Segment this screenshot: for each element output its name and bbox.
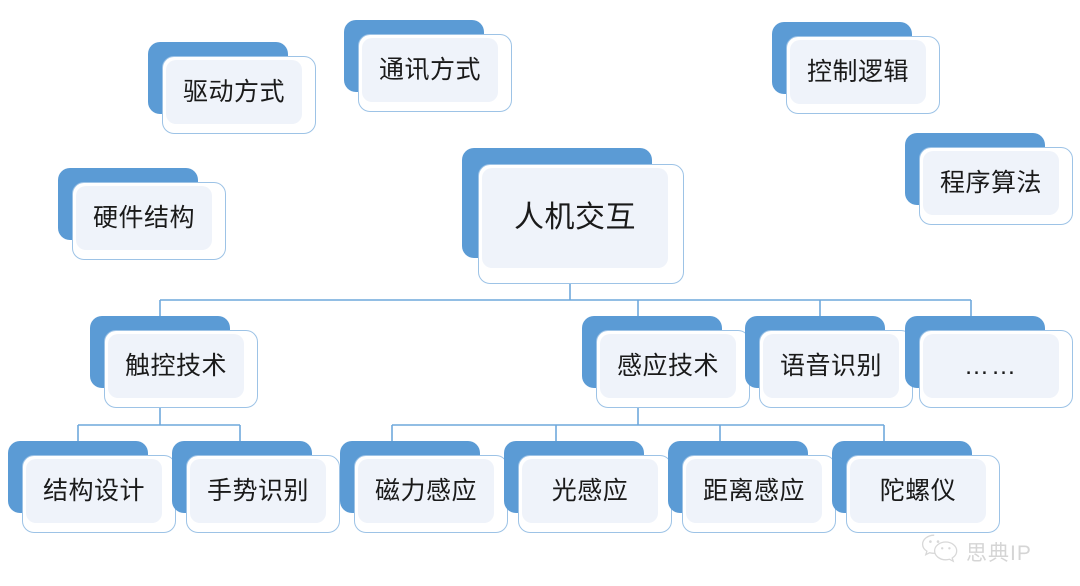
node-program-algorithm[interactable]: 程序算法 — [905, 133, 1073, 225]
node-label: 陀螺仪 — [880, 479, 957, 504]
wechat-icon — [920, 532, 960, 571]
node-touch-technology[interactable]: 触控技术 — [90, 316, 258, 408]
node-hardware-structure[interactable]: 硬件结构 — [58, 168, 226, 260]
node-fill: 人机交互 — [482, 168, 668, 268]
mindmap-canvas: 驱动方式 通讯方式 控制逻辑 程序算法 硬件结构 人机交互 — [0, 0, 1080, 586]
node-label: 硬件结构 — [93, 206, 195, 231]
node-label: 人机交互 — [514, 203, 636, 233]
node-label: 程序算法 — [940, 171, 1042, 196]
node-fill: 控制逻辑 — [790, 40, 926, 104]
node-gyroscope[interactable]: 陀螺仪 — [832, 441, 1000, 533]
node-voice-recognition[interactable]: 语音识别 — [745, 316, 913, 408]
node-light-sensing[interactable]: 光感应 — [504, 441, 672, 533]
node-label: 结构设计 — [43, 479, 145, 504]
node-label: 触控技术 — [125, 354, 227, 379]
node-sensing-technology[interactable]: 感应技术 — [582, 316, 750, 408]
node-gesture-recognition[interactable]: 手势识别 — [172, 441, 340, 533]
node-structural-design[interactable]: 结构设计 — [8, 441, 176, 533]
node-label: 手势识别 — [207, 479, 309, 504]
node-ellipsis[interactable]: …… — [905, 316, 1073, 408]
node-label: …… — [964, 354, 1018, 379]
node-fill: 语音识别 — [763, 334, 899, 398]
node-fill: 距离感应 — [686, 459, 822, 523]
node-proximity-sensing[interactable]: 距离感应 — [668, 441, 836, 533]
node-fill: 程序算法 — [923, 151, 1059, 215]
node-fill: 触控技术 — [108, 334, 244, 398]
node-fill: 通讯方式 — [362, 38, 498, 102]
node-fill: …… — [923, 334, 1059, 398]
node-fill: 驱动方式 — [166, 60, 302, 124]
node-label: 感应技术 — [617, 354, 719, 379]
watermark-text: 思典IP — [966, 537, 1032, 567]
node-label: 语音识别 — [780, 354, 882, 379]
node-fill: 手势识别 — [190, 459, 326, 523]
node-label: 距离感应 — [703, 479, 805, 504]
watermark: 思典IP — [920, 532, 1032, 571]
node-label: 控制逻辑 — [807, 60, 909, 85]
node-root-human-computer-interaction[interactable]: 人机交互 — [462, 148, 684, 284]
node-fill: 光感应 — [522, 459, 658, 523]
node-magnetic-sensing[interactable]: 磁力感应 — [340, 441, 508, 533]
node-fill: 感应技术 — [600, 334, 736, 398]
node-label: 通讯方式 — [379, 58, 481, 83]
node-label: 光感应 — [552, 479, 629, 504]
node-drive-method[interactable]: 驱动方式 — [148, 42, 316, 134]
node-label: 驱动方式 — [183, 80, 285, 105]
node-fill: 磁力感应 — [358, 459, 494, 523]
node-control-logic[interactable]: 控制逻辑 — [772, 22, 940, 114]
node-fill: 结构设计 — [26, 459, 162, 523]
node-label: 磁力感应 — [375, 479, 477, 504]
node-communication-method[interactable]: 通讯方式 — [344, 20, 512, 112]
node-fill: 陀螺仪 — [850, 459, 986, 523]
node-fill: 硬件结构 — [76, 186, 212, 250]
